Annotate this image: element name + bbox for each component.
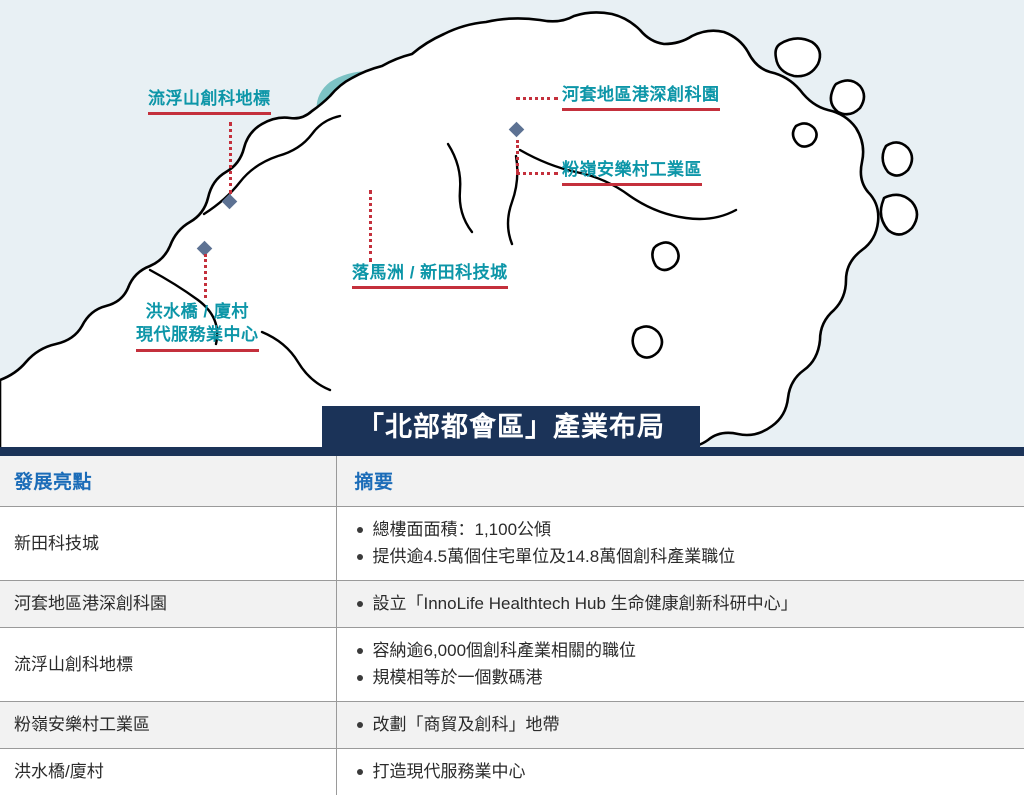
leader-lok-ma-chau bbox=[369, 190, 372, 262]
map-label-lau-fau-shan[interactable]: 流浮山創科地標 bbox=[148, 88, 271, 115]
map-area: 流浮山創科地標 河套地區港深創科園 粉嶺安樂村工業區 落馬洲 / 新田科技城 洪… bbox=[0, 0, 1024, 447]
bullet-list: 改劃「商貿及創科」地帶 bbox=[355, 711, 1017, 738]
row-summary-cell: 改劃「商貿及創科」地帶 bbox=[336, 702, 1024, 749]
leader-lau-fau-shan bbox=[229, 122, 232, 194]
island-1 bbox=[776, 38, 821, 76]
map-label-fanling[interactable]: 粉嶺安樂村工業區 bbox=[562, 159, 702, 186]
highlights-table: 發展亮點 摘要 新田科技城 總樓面面積：1,100公傾 提供逾4.5萬個住宅單位… bbox=[0, 456, 1024, 795]
row-highlight-cell: 新田科技城 bbox=[0, 507, 336, 581]
map-label-hetao[interactable]: 河套地區港深創科園 bbox=[562, 84, 720, 111]
map-label-hung-shui-kiu[interactable]: 洪水橋 / 廈村 現代服務業中心 bbox=[136, 300, 259, 352]
row-summary-cell: 設立「InnoLife Healthtech Hub 生命健康創新科研中心」 bbox=[336, 581, 1024, 628]
leader-fanling-horizontal bbox=[516, 172, 558, 175]
table-header: 發展亮點 摘要 bbox=[0, 456, 1024, 507]
land-new-territories bbox=[0, 12, 1024, 447]
table-header-row: 發展亮點 摘要 bbox=[0, 456, 1024, 507]
row-highlight-cell: 河套地區港深創科園 bbox=[0, 581, 336, 628]
bullet-list: 總樓面面積：1,100公傾 提供逾4.5萬個住宅單位及14.8萬個創科產業職位 bbox=[355, 516, 1017, 570]
column-header-summary: 摘要 bbox=[336, 456, 1024, 507]
row-highlight-cell: 粉嶺安樂村工業區 bbox=[0, 702, 336, 749]
row-highlight-cell: 流浮山創科地標 bbox=[0, 628, 336, 702]
bullet-item: 提供逾4.5萬個住宅單位及14.8萬個創科產業職位 bbox=[355, 543, 1017, 570]
island-7 bbox=[652, 242, 678, 270]
map-label-hung-shui-kiu-line1: 洪水橋 / 廈村 bbox=[146, 302, 249, 321]
table-row: 河套地區港深創科園 設立「InnoLife Healthtech Hub 生命健… bbox=[0, 581, 1024, 628]
row-summary-cell: 總樓面面積：1,100公傾 提供逾4.5萬個住宅單位及14.8萬個創科產業職位 bbox=[336, 507, 1024, 581]
table-row: 粉嶺安樂村工業區 改劃「商貿及創科」地帶 bbox=[0, 702, 1024, 749]
leader-fanling-vertical bbox=[516, 140, 519, 172]
bullet-item: 設立「InnoLife Healthtech Hub 生命健康創新科研中心」 bbox=[355, 590, 1017, 617]
table-body: 新田科技城 總樓面面積：1,100公傾 提供逾4.5萬個住宅單位及14.8萬個創… bbox=[0, 507, 1024, 795]
leader-hung-shui-kiu bbox=[204, 254, 207, 298]
bullet-item: 改劃「商貿及創科」地帶 bbox=[355, 711, 1017, 738]
table-row: 新田科技城 總樓面面積：1,100公傾 提供逾4.5萬個住宅單位及14.8萬個創… bbox=[0, 507, 1024, 581]
bullet-item: 規模相等於一個數碼港 bbox=[355, 664, 1017, 691]
navy-divider-bar bbox=[0, 447, 1024, 456]
leader-hetao bbox=[516, 97, 558, 100]
island-6 bbox=[633, 326, 662, 357]
island-3 bbox=[883, 142, 912, 175]
bullet-list: 設立「InnoLife Healthtech Hub 生命健康創新科研中心」 bbox=[355, 590, 1017, 617]
column-header-highlight: 發展亮點 bbox=[0, 456, 336, 507]
row-summary-cell: 容納逾6,000個創科產業相關的職位 規模相等於一個數碼港 bbox=[336, 628, 1024, 702]
title-banner: 「北部都會區」產業布局 bbox=[322, 406, 700, 447]
map-label-hung-shui-kiu-line2: 現代服務業中心 bbox=[136, 325, 259, 344]
bullet-list: 容納逾6,000個創科產業相關的職位 規模相等於一個數碼港 bbox=[355, 637, 1017, 691]
map-land bbox=[0, 12, 1024, 447]
table-row: 流浮山創科地標 容納逾6,000個創科產業相關的職位 規模相等於一個數碼港 bbox=[0, 628, 1024, 702]
bullet-item: 容納逾6,000個創科產業相關的職位 bbox=[355, 637, 1017, 664]
island-2 bbox=[831, 80, 864, 114]
island-4 bbox=[881, 195, 917, 235]
island-5 bbox=[793, 123, 817, 146]
infographic-root: 流浮山創科地標 河套地區港深創科園 粉嶺安樂村工業區 落馬洲 / 新田科技城 洪… bbox=[0, 0, 1024, 772]
map-illustration bbox=[0, 0, 1024, 447]
bullet-item: 總樓面面積：1,100公傾 bbox=[355, 516, 1017, 543]
page-title: 「北部都會區」產業布局 bbox=[357, 412, 665, 442]
highlights-table-wrapper: 發展亮點 摘要 新田科技城 總樓面面積：1,100公傾 提供逾4.5萬個住宅單位… bbox=[0, 456, 1024, 772]
map-label-lok-ma-chau[interactable]: 落馬洲 / 新田科技城 bbox=[352, 262, 508, 289]
